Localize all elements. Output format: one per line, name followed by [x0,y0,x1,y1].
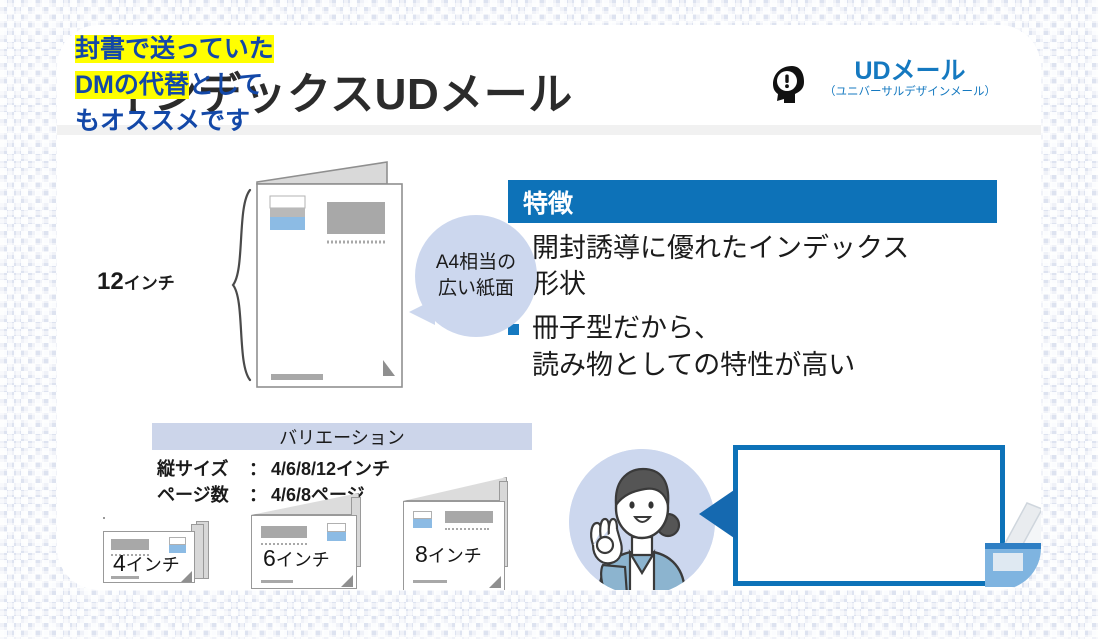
callout-arrow-icon [699,488,737,540]
bubble-line-1: A4相当の [436,250,516,276]
sample-4-corner [181,571,192,582]
variation-label-pages: ページ数 [157,481,249,507]
sample-4-tab-white [169,537,186,545]
leaflet-illustration [187,160,437,410]
a4-size-callout-bubble: A4相当の 広い紙面 [415,215,537,337]
callout-box [733,445,1005,586]
variation-sep-0: ： [249,455,271,481]
callout-line-1: DMの代替として [75,73,263,98]
sample-6-tab-white [327,523,346,532]
sample-6-number: 6 [263,545,276,571]
logo-main-label: UDメール [817,58,1003,84]
feature-text-1: 冊子型だから、 読み物としての特性が高い [532,310,855,382]
ud-mail-logo: UDメール （ユニバーサルデザインメール） [765,57,1001,119]
sample-8-caption: 8インチ [415,541,482,568]
sample-booklet-8inch: 8インチ [397,477,537,590]
feature-item-0: 開封誘導に優れたインデックス 形状 [508,230,1008,302]
feature-item-1: 冊子型だから、 読み物としての特性が高い [508,310,1008,382]
size-12inch-unit: インチ [124,274,175,293]
sample-8-address-block [445,511,493,523]
size-12inch-number: 12 [97,268,124,295]
sample-8-corner [489,576,501,588]
sample-8-dotted-line [445,528,489,530]
logo-text-group: UDメール （ユニバーサルデザインメール） [817,58,1003,100]
callout-line-1-plain: として [189,71,263,99]
sample-4-address-block [111,539,149,550]
woman-ok-gesture-icon [569,449,715,590]
head-exclamation-icon [765,63,807,105]
sample-6-corner [341,575,353,587]
callout-line-0: 封書で送っていた [75,37,274,62]
sample-4-number: 4 [113,550,126,576]
sample-6-flap [251,493,359,515]
callout-line-2-plain: もオススメです [75,107,250,135]
sample-4-unit: インチ [126,555,180,575]
sample-6-underline [261,580,293,583]
callout-line-1-highlight: DMの代替 [75,71,189,99]
variation-row-size: 縦サイズ：4/6/8/12インチ [157,455,390,481]
content-card: インデックスUDメール UDメール （ユニバーサルデザインメール） [57,25,1041,590]
sample-6-caption: 6インチ [263,545,330,572]
sample-booklet-4inch: 4インチ [103,515,233,590]
sample-8-flap [403,477,507,501]
sample-8-tab-white [413,511,432,519]
sample-8-underline [413,580,447,583]
sample-8-tab-blue [413,519,432,528]
variation-value-size: 4/6/8/12インチ [271,459,390,479]
feature-text-0: 開封誘導に優れたインデックス 形状 [532,230,909,302]
envelope-with-letters-icon [971,493,1041,590]
slide-canvas: インデックスUDメール UDメール （ユニバーサルデザインメール） [0,0,1098,639]
variation-label-size: 縦サイズ [157,455,249,481]
size-12inch-label: 12インチ [97,268,175,296]
features-heading: 特徴 [508,180,997,223]
callout-line-2: もオススメです [75,109,250,134]
sample-4-flap [103,517,105,519]
sample-8-unit: インチ [428,546,482,566]
bubble-line-2: 広い紙面 [438,276,514,302]
variation-heading: バリエーション [152,423,532,450]
callout-line-0-highlight: 封書で送っていた [75,35,274,63]
sample-8-number: 8 [415,541,428,567]
sample-4-caption: 4インチ [113,550,180,577]
sample-6-tab-blue [327,532,346,541]
sample-6-address-block [261,526,307,538]
features-list: 開封誘導に優れたインデックス 形状 冊子型だから、 読み物としての特性が高い [508,230,1008,391]
sample-6-unit: インチ [276,550,330,570]
logo-sub-label: （ユニバーサルデザインメール） [817,85,1003,100]
sample-booklet-6inch: 6インチ [245,493,385,590]
